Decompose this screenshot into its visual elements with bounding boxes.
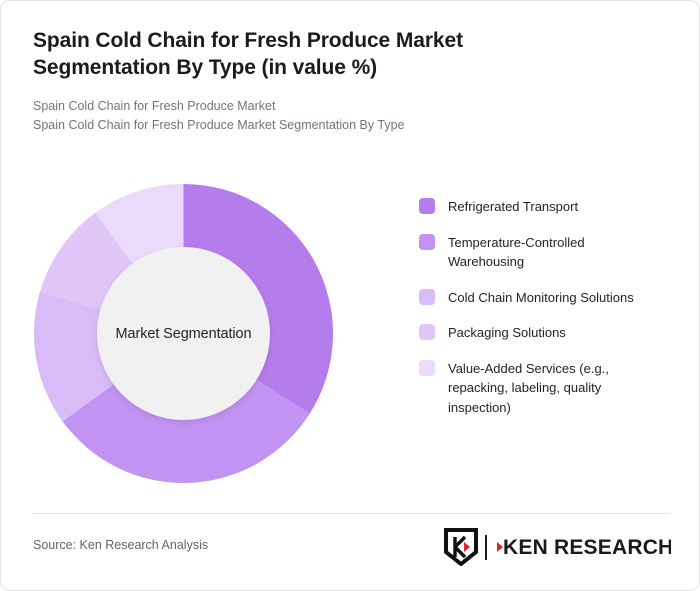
legend-swatch-icon <box>419 289 435 305</box>
subtitle-line-2: Spain Cold Chain for Fresh Produce Marke… <box>33 116 667 135</box>
legend-item[interactable]: Value-Added Services (e.g., repacking, l… <box>419 359 674 418</box>
legend-swatch-icon <box>419 324 435 340</box>
legend-swatch-icon <box>419 360 435 376</box>
legend-item-label: Cold Chain Monitoring Solutions <box>448 288 634 308</box>
logo-text-label: KEN RESEARCH <box>503 536 671 559</box>
subtitle-block: Spain Cold Chain for Fresh Produce Marke… <box>33 97 667 135</box>
source-text: Source: Ken Research Analysis <box>33 538 208 552</box>
legend-item[interactable]: Packaging Solutions <box>419 323 674 343</box>
chart-header: Spain Cold Chain for Fresh Produce Marke… <box>1 1 699 135</box>
legend-item[interactable]: Refrigerated Transport <box>419 197 674 217</box>
page-title: Spain Cold Chain for Fresh Produce Marke… <box>33 27 573 81</box>
ken-research-logo-mark-icon <box>444 528 478 566</box>
legend-item[interactable]: Cold Chain Monitoring Solutions <box>419 288 674 308</box>
legend-swatch-icon <box>419 234 435 250</box>
ken-research-logo-text: KEN RESEARCH <box>495 534 671 560</box>
legend-item-label: Packaging Solutions <box>448 323 566 343</box>
legend-item-label: Temperature-Controlled Warehousing <box>448 233 648 272</box>
legend-item-label: Refrigerated Transport <box>448 197 578 217</box>
donut-hole <box>97 247 270 420</box>
donut-chart: Market Segmentation <box>34 184 333 483</box>
legend-item-label: Value-Added Services (e.g., repacking, l… <box>448 359 648 418</box>
chart-footer: Source: Ken Research Analysis KEN RESEAR… <box>1 514 700 591</box>
legend-swatch-icon <box>419 198 435 214</box>
donut-chart-svg <box>34 184 333 483</box>
chart-body: Market Segmentation Refrigerated Transpo… <box>1 169 700 505</box>
ken-research-logo: KEN RESEARCH <box>444 527 671 567</box>
chart-card: Spain Cold Chain for Fresh Produce Marke… <box>0 0 700 591</box>
chart-legend: Refrigerated TransportTemperature-Contro… <box>419 197 674 417</box>
logo-separator <box>485 535 487 560</box>
legend-item[interactable]: Temperature-Controlled Warehousing <box>419 233 674 272</box>
subtitle-line-1: Spain Cold Chain for Fresh Produce Marke… <box>33 97 667 116</box>
